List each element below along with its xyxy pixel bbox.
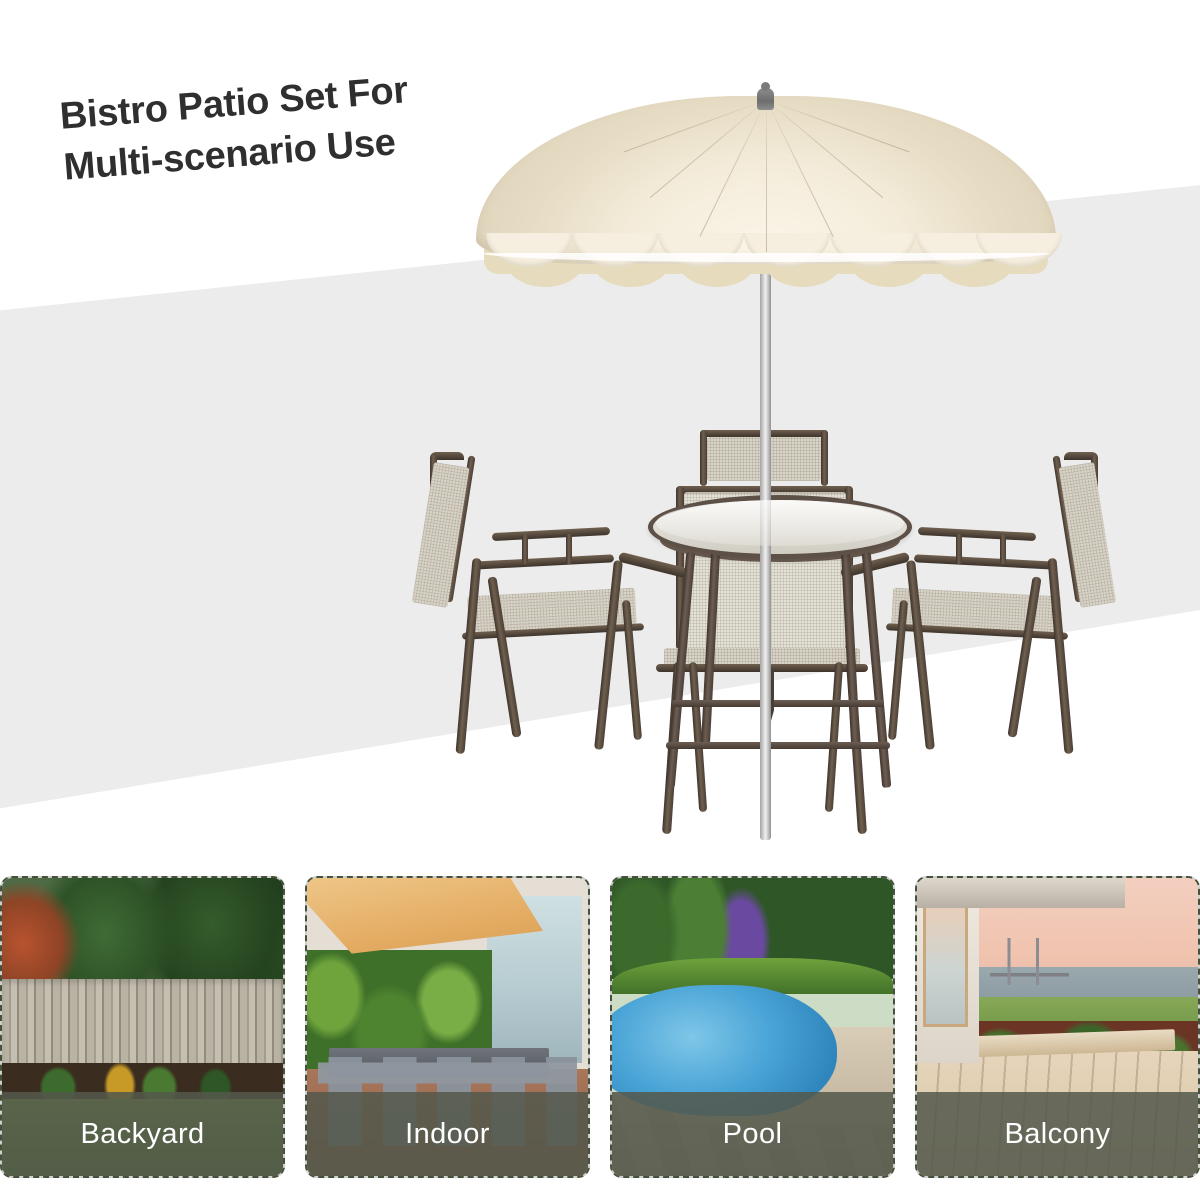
chair-arm-post	[1000, 534, 1006, 564]
chair-arm-post	[522, 534, 528, 564]
chair-armrest	[918, 527, 1036, 541]
scenario-caption-balcony: Balcony	[917, 1092, 1198, 1176]
product-marketing-image: Bistro Patio Set For Multi-scenario Use	[0, 0, 1200, 1200]
chair-leg	[1047, 558, 1073, 754]
scenario-tile-indoor[interactable]: Indoor	[305, 876, 590, 1178]
scenario-tile-pool[interactable]: Pool	[610, 876, 895, 1178]
scenario-tile-row: Backyard Indoor	[0, 876, 1200, 1186]
chair-frame	[821, 430, 828, 486]
chair-armrest	[492, 527, 610, 541]
chair-armrest-lower	[914, 554, 1056, 569]
chair-leg	[825, 662, 843, 812]
scenario-tile-backyard[interactable]: Backyard	[0, 876, 285, 1178]
scenario-caption-backyard: Backyard	[2, 1092, 283, 1176]
table-stretcher	[666, 742, 890, 749]
umbrella-finial-icon	[757, 88, 774, 110]
chair-frame	[700, 430, 707, 486]
chair-leg	[455, 558, 481, 754]
table-glass-surface	[656, 500, 904, 546]
umbrella-canopy	[476, 96, 1056, 264]
chair-armrest-lower	[472, 554, 614, 569]
chair-arm-post	[956, 534, 962, 564]
chair-arm-post	[566, 534, 572, 564]
scenario-caption-pool: Pool	[612, 1092, 893, 1176]
scenario-caption-indoor: Indoor	[307, 1092, 588, 1176]
table-stretcher	[672, 700, 884, 707]
scenario-tile-balcony[interactable]: Balcony	[915, 876, 1200, 1178]
